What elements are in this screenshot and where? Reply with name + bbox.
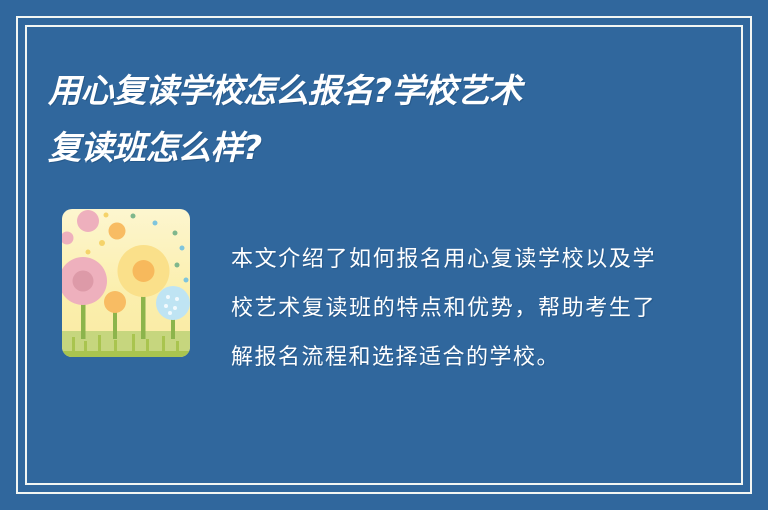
page-title: 用心复读学校怎么报名?学校艺术 复读班怎么样? <box>48 62 648 176</box>
flower-garden-illustration <box>58 205 198 365</box>
poster-canvas: 用心复读学校怎么报名?学校艺术 复读班怎么样? <box>0 0 768 510</box>
body-paragraph: 本文介绍了如何报名用心复读学校以及学校艺术复读班的特点和优势，帮助考生了解报名流… <box>231 235 656 382</box>
page-title-line-2: 复读班怎么样? <box>48 119 648 176</box>
page-title-line-1: 用心复读学校怎么报名?学校艺术 <box>48 62 648 119</box>
